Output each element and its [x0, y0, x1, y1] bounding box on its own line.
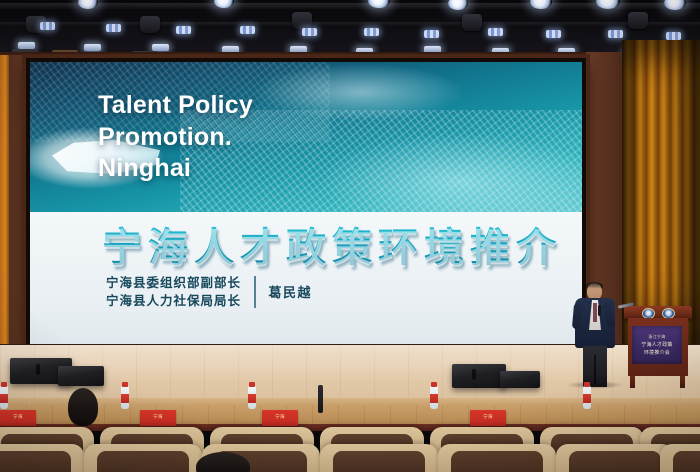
presentation-slide: Talent Policy Promotion. Ninghai 宁海人才政策环…: [30, 62, 582, 346]
presenter-titles: 宁海县委组织部副部长 宁海县人力社保局局长: [106, 274, 241, 310]
speaking-podium: 浙江宁海 宁海人才政策 环境推介会: [624, 306, 692, 388]
rgb-wash-light: [666, 32, 681, 40]
delegate-name-card: 宁海: [470, 410, 506, 426]
stage-spotlight: [140, 16, 160, 33]
presenter-tie: [593, 303, 597, 322]
bottle-label: [121, 394, 129, 403]
spotlight-lens: [152, 44, 169, 51]
podium-leg-left: [630, 376, 635, 388]
water-bottle: [121, 386, 129, 409]
bottle-label: [0, 394, 8, 403]
auditorium-seat: [556, 444, 674, 472]
presenter-title-line-1: 宁海县委组织部副部长: [106, 274, 241, 292]
presenter-figure: [572, 283, 618, 387]
podium-banner-line-1: 浙江宁海: [648, 334, 665, 340]
delegate-name-card: 宁海: [0, 410, 36, 426]
name-card-text: 宁海: [0, 414, 36, 420]
monitor-handle: [36, 364, 40, 375]
name-card-text: 宁海: [262, 414, 298, 420]
seat-cushion: [569, 451, 661, 472]
bottle-cap: [249, 382, 255, 387]
stage-monitor-speaker: [452, 364, 506, 388]
slide-chinese-title: 宁海人才政策环境推介: [102, 215, 572, 273]
slide-subtitle-block: 宁海县委组织部副部长 宁海县人力社保局局长 葛民越: [106, 274, 312, 310]
stage-monitor-speaker: [58, 366, 104, 386]
rgb-wash-light: [176, 26, 191, 34]
handheld-microphone: [598, 305, 601, 316]
bottle-cap: [122, 382, 128, 387]
water-bottle: [248, 386, 256, 409]
seat-cushion: [673, 451, 700, 472]
water-bottle: [430, 386, 438, 409]
truss-bar: [0, 3, 700, 9]
bottle-cap: [1, 382, 7, 387]
name-card-text: 宁海: [470, 414, 506, 420]
conference-stage-photo: Talent Policy Promotion. Ninghai 宁海人才政策环…: [0, 0, 700, 472]
podium-leg-right: [680, 376, 685, 388]
rgb-wash-light: [546, 30, 561, 38]
delegate-name-card: 宁海: [140, 410, 176, 426]
stage-spotlight: [628, 12, 648, 29]
seat-cushion: [0, 451, 71, 472]
bottle-label: [583, 394, 591, 403]
auditorium-seat: [84, 444, 202, 472]
rgb-wash-light: [364, 28, 379, 36]
presenter-name: 葛民越: [269, 282, 313, 301]
presenter-title-line-2: 宁海县人力社保局局长: [106, 292, 241, 310]
side-curtain-left: [0, 55, 9, 355]
spotlight-lens: [84, 44, 101, 51]
bottle-cap: [431, 382, 437, 387]
name-card-text: 宁海: [140, 414, 176, 420]
rgb-wash-light: [240, 26, 255, 34]
desk-microphone: [318, 385, 323, 413]
rgb-wash-light: [424, 30, 439, 38]
bottle-cap: [584, 382, 590, 387]
auditorium-seat: [660, 444, 700, 472]
seat-cushion: [451, 451, 543, 472]
seat-cushion: [333, 451, 425, 472]
monitor-handle: [472, 369, 476, 380]
rgb-wash-light: [302, 28, 317, 36]
rgb-wash-light: [40, 22, 55, 30]
slide-english-title: Talent Policy Promotion. Ninghai: [98, 90, 398, 185]
audience-head: [68, 388, 98, 426]
water-bottle: [583, 386, 591, 409]
rgb-wash-light: [608, 30, 623, 38]
podium-banner: 浙江宁海 宁海人才政策 环境推介会: [632, 326, 682, 364]
rgb-wash-light: [488, 28, 503, 36]
auditorium-seat: [320, 444, 438, 472]
water-bottle: [0, 386, 8, 409]
english-title-line-2: Promotion.: [98, 122, 398, 154]
spotlight-lens: [18, 42, 35, 49]
seat-cushion: [97, 451, 189, 472]
presenter-leg-gap: [594, 355, 596, 385]
delegate-name-card: 宁海: [262, 410, 298, 426]
rgb-wash-light: [106, 24, 121, 32]
podium-banner-line-2: 宁海人才政策: [641, 341, 672, 348]
subtitle-divider: [254, 276, 256, 308]
bottle-label: [430, 394, 438, 403]
stage-spotlight: [462, 14, 482, 31]
truss-bar: [0, 22, 700, 26]
auditorium-seat: [0, 444, 84, 472]
auditorium-seat: [438, 444, 556, 472]
english-title-line-1: Talent Policy: [98, 90, 398, 122]
bottle-label: [248, 394, 256, 403]
english-title-line-3: Ninghai: [98, 153, 398, 185]
stage-spotlight: [292, 12, 312, 29]
podium-banner-line-3: 环境推介会: [644, 349, 670, 356]
stage-monitor-speaker: [500, 371, 540, 388]
